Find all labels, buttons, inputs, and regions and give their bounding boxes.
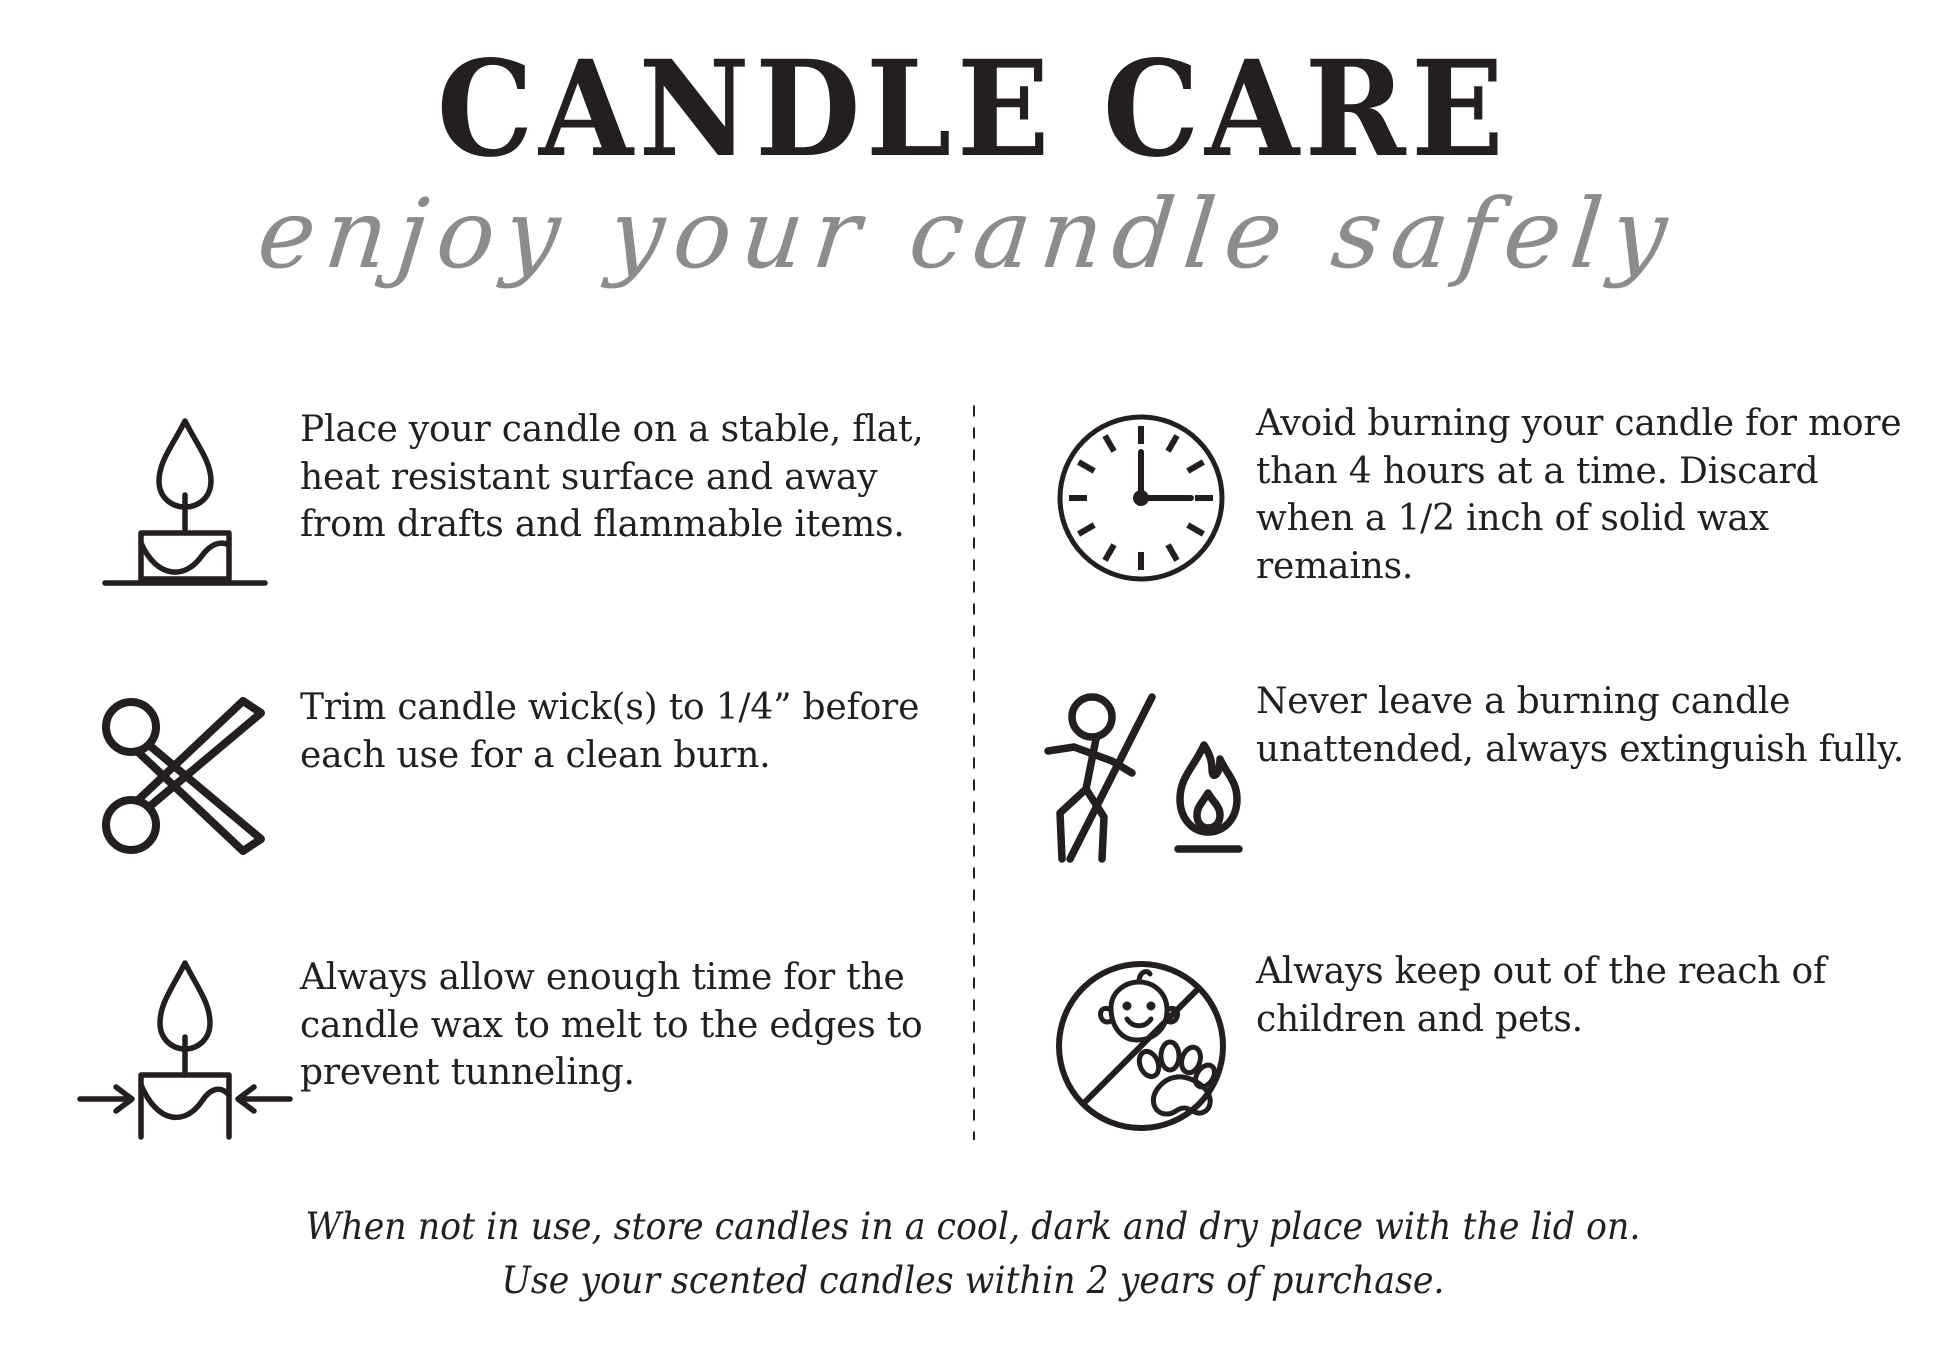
tip-text: Trim candle wick(s) to 1/4” before each … [300,676,950,779]
clock-icon [1026,398,1256,598]
person-leaving-fire-icon [1026,676,1256,876]
page-title: CANDLE CARE [78,44,1868,176]
no-children-pets-icon [1026,946,1256,1146]
scissors-icon [70,676,300,876]
left-tips-column: Place your candle on a stable, flat, hea… [70,398,950,1202]
candle-jar-on-surface-icon [70,398,300,598]
candle-wax-melt-edges-icon [70,946,300,1146]
poster-canvas: CANDLE CARE enjoy your candle safely [0,0,1946,1363]
tip-text: Avoid burning your candle for more than … [1256,398,1906,590]
footer-note: When not in use, store candles in a cool… [58,1200,1887,1307]
tip-item: Always keep out of the reach of children… [1026,946,1906,1146]
tip-text: Place your candle on a stable, flat, hea… [300,398,950,549]
tip-item: Never leave a burning candle unattended,… [1026,676,1906,876]
tip-item: Avoid burning your candle for more than … [1026,398,1906,598]
poster-header: CANDLE CARE enjoy your candle safely [0,44,1946,288]
tip-item: Always allow enough time for the candle … [70,946,950,1146]
footer-line-2: Use your scented candles within 2 years … [58,1254,1887,1308]
tip-text: Always keep out of the reach of children… [1256,946,1906,1043]
footer-line-1: When not in use, store candles in a cool… [58,1200,1887,1254]
tip-item: Trim candle wick(s) to 1/4” before each … [70,676,950,876]
tip-item: Place your candle on a stable, flat, hea… [70,398,950,598]
tip-text: Always allow enough time for the candle … [300,946,950,1097]
tip-text: Never leave a burning candle unattended,… [1256,676,1906,773]
column-divider [972,400,976,1140]
page-subtitle: enjoy your candle safely [0,182,1946,288]
right-tips-column: Avoid burning your candle for more than … [1026,398,1906,1202]
